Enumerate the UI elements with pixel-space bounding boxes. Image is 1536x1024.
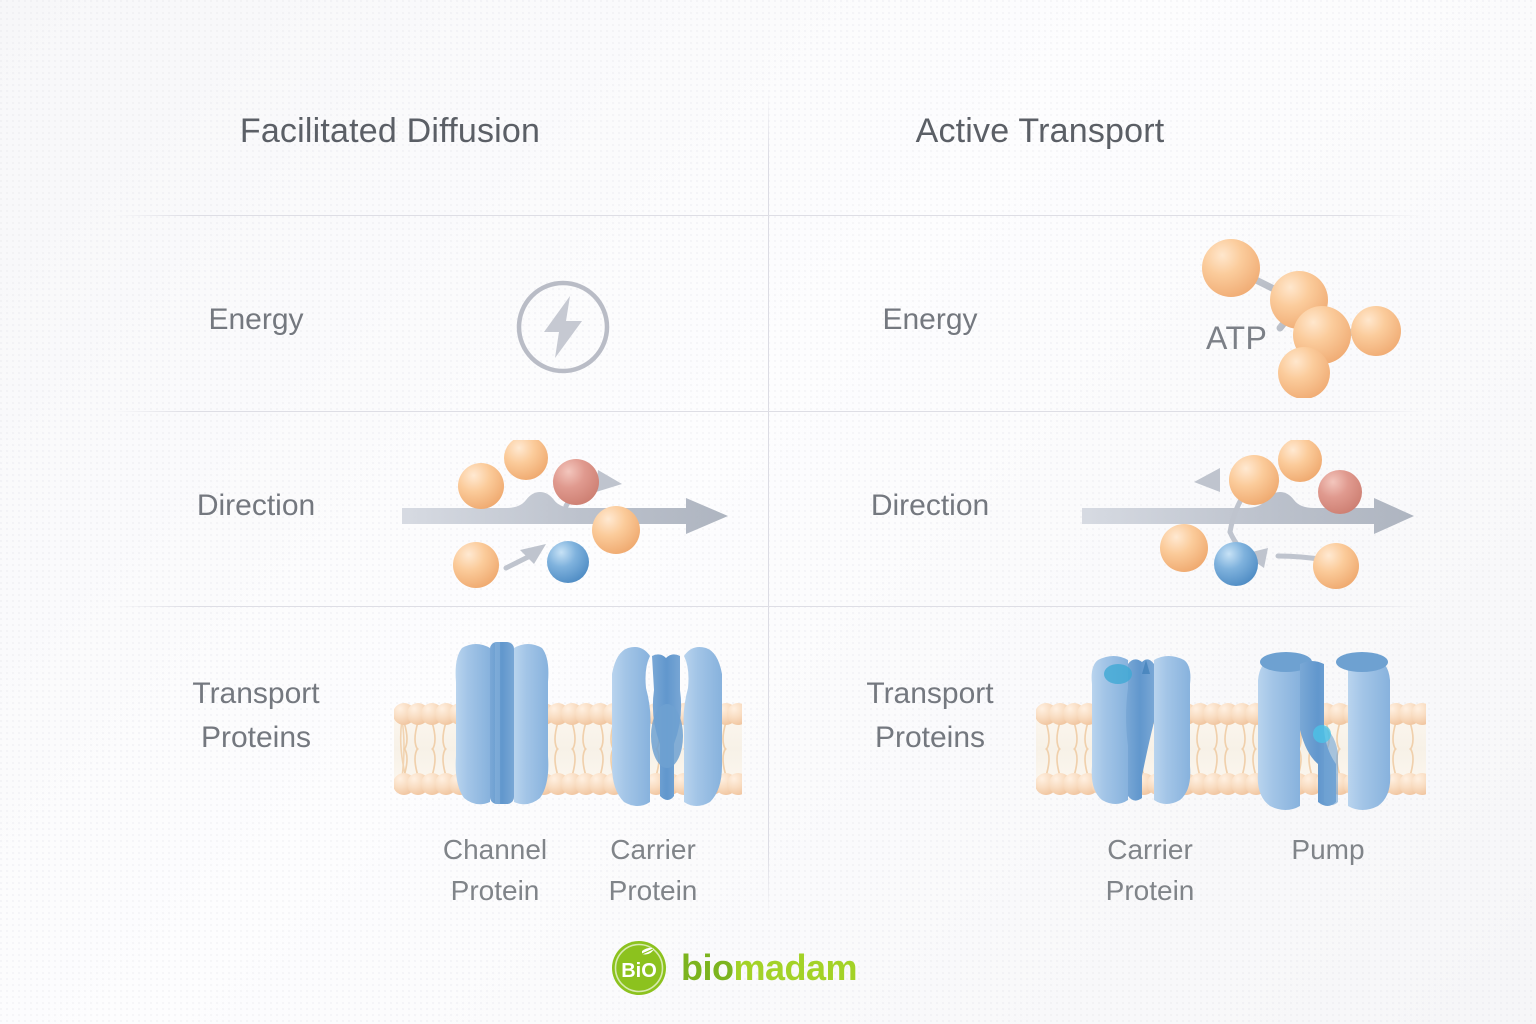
row-divider-header bbox=[112, 215, 1424, 216]
transport-label-line2: Proteins bbox=[201, 721, 311, 754]
caption-line1: Channel bbox=[443, 834, 547, 865]
transport-label-line1: Transport bbox=[192, 677, 319, 710]
comparison-sheet: Facilitated Diffusion Active Transport E… bbox=[0, 0, 1536, 1024]
biomadam-logo: BiO biomadam bbox=[611, 940, 857, 996]
transport-label-line1: Transport bbox=[866, 677, 993, 710]
channel-protein-shape bbox=[456, 642, 549, 804]
logo-wordmark: biomadam bbox=[681, 950, 857, 986]
column-header-active-transport: Active Transport bbox=[830, 112, 1250, 151]
logo-word-madam: madam bbox=[733, 947, 857, 988]
column-header-facilitated-diffusion: Facilitated Diffusion bbox=[180, 112, 600, 151]
row-label-transport-proteins-left: Transport Proteins bbox=[138, 672, 374, 759]
pump-protein-shape bbox=[1258, 652, 1391, 810]
row-label-energy-right: Energy bbox=[812, 298, 1048, 342]
caption-line2: Protein bbox=[1106, 875, 1195, 906]
lightning-bolt-icon bbox=[514, 278, 612, 376]
row-label-energy-left: Energy bbox=[138, 298, 374, 342]
atp-label: ATP bbox=[1206, 320, 1267, 357]
row-divider-direction bbox=[112, 606, 1424, 607]
carrier-protein-shape bbox=[612, 647, 722, 806]
caption-channel-protein: Channel Protein bbox=[400, 830, 590, 911]
direction-diagram-active bbox=[1078, 440, 1418, 600]
bio-badge-icon: BiO bbox=[611, 940, 667, 996]
carrier-protein-shape bbox=[1092, 656, 1191, 804]
caption-line1: Carrier bbox=[1107, 834, 1193, 865]
row-label-direction-right: Direction bbox=[812, 484, 1048, 528]
caption-line1: Pump bbox=[1291, 834, 1364, 865]
caption-line2: Protein bbox=[609, 875, 698, 906]
caption-carrier-protein-left: Carrier Protein bbox=[578, 830, 728, 911]
membrane-diagram-facilitated bbox=[394, 626, 742, 826]
direction-diagram-facilitated bbox=[398, 440, 738, 600]
caption-line2: Protein bbox=[451, 875, 540, 906]
row-label-direction-left: Direction bbox=[138, 484, 374, 528]
caption-carrier-protein-right: Carrier Protein bbox=[1060, 830, 1240, 911]
caption-pump: Pump bbox=[1248, 830, 1408, 871]
caption-line1: Carrier bbox=[610, 834, 696, 865]
atp-molecule-icon bbox=[1180, 238, 1430, 398]
transport-label-line2: Proteins bbox=[875, 721, 985, 754]
membrane-diagram-active bbox=[1036, 626, 1426, 826]
row-label-transport-proteins-right: Transport Proteins bbox=[812, 672, 1048, 759]
svg-text:BiO: BiO bbox=[621, 960, 657, 982]
logo-word-bio: bio bbox=[681, 947, 733, 988]
row-divider-energy bbox=[112, 411, 1424, 412]
